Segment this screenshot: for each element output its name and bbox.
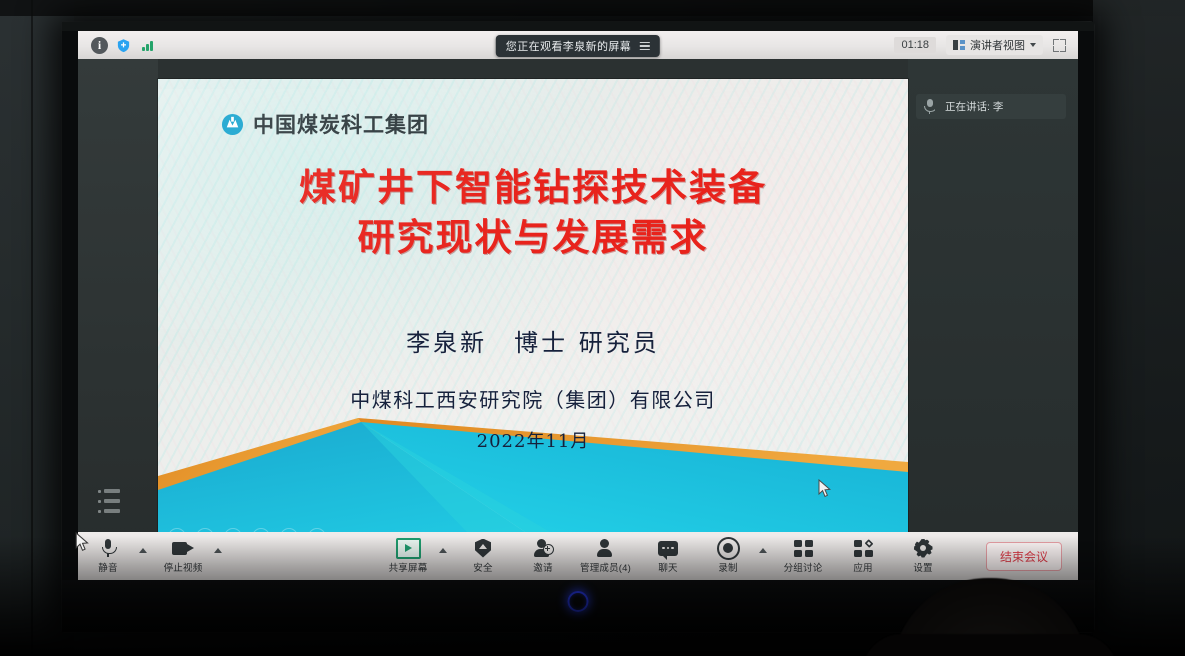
slide-title-line2: 研究现状与发展需求: [158, 213, 908, 263]
chevron-down-icon: [1030, 43, 1036, 47]
slide-title: 煤矿井下智能钻探技术装备 研究现状与发展需求: [158, 163, 908, 262]
org-name-label: 中国煤炭科工集团: [253, 109, 429, 139]
shield-icon[interactable]: [115, 37, 132, 54]
speaking-label: 正在讲话: 李: [945, 99, 1003, 114]
viewing-notice-label: 您正在观看李泉新的屏幕: [506, 38, 631, 54]
slide-affiliation: 中煤科工西安研究院（集团）有限公司: [158, 384, 908, 413]
screen-content: i 您正在观看李泉新的屏幕 01:1: [78, 31, 1078, 580]
meeting-timer: 01:18: [894, 37, 936, 53]
participant-panel: 正在讲话: 李: [908, 59, 1078, 580]
speaker-view-icon: [953, 40, 965, 50]
screen-share-notice: 您正在观看李泉新的屏幕: [496, 35, 660, 57]
slide-title-line1: 煤矿井下智能钻探技术装备: [158, 163, 908, 213]
slide-org-logo: 中国煤炭科工集团: [221, 109, 429, 139]
view-mode-label: 演讲者视图: [970, 37, 1025, 53]
active-speaker-indicator: 正在讲话: 李: [916, 94, 1066, 119]
stage-left-rail: [78, 59, 158, 580]
slide-date: 2022年11月: [158, 427, 908, 453]
hamburger-icon[interactable]: [640, 42, 650, 51]
meeting-stage: 正在讲话: 李: [78, 59, 1078, 580]
signal-strength-icon[interactable]: [139, 37, 156, 54]
room-scene: i 您正在观看李泉新的屏幕 01:1: [0, 0, 1185, 656]
zoom-top-bar: i 您正在观看李泉新的屏幕 01:1: [78, 31, 1078, 59]
ccteg-logo-icon: [221, 113, 244, 136]
info-icon[interactable]: i: [91, 37, 108, 54]
fullscreen-icon[interactable]: [1053, 39, 1066, 52]
top-bar-right: 01:18 演讲者视图: [894, 35, 1078, 55]
microphone-icon: [924, 99, 935, 114]
shared-slide[interactable]: 中国煤炭科工集团 煤矿井下智能钻探技术装备 研究现状与发展需求 李泉新 博士 研…: [158, 79, 908, 554]
monitor-bezel-top: [62, 22, 1094, 31]
view-mode-selector[interactable]: 演讲者视图: [946, 35, 1043, 55]
wall-ceiling-strip: [0, 0, 1185, 16]
slide-presenter: 李泉新 博士 研究员: [158, 323, 908, 358]
list-menu-icon[interactable]: [98, 487, 126, 515]
top-bar-left-icons: i: [78, 37, 156, 54]
